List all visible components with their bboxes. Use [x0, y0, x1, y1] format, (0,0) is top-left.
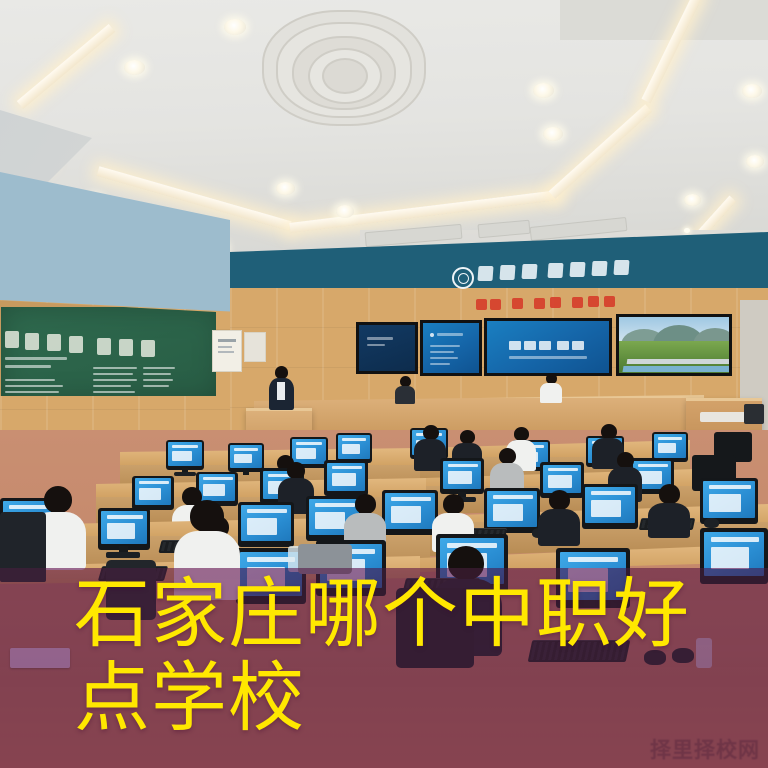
sign-red-glyph: [490, 299, 501, 310]
sign-glyph: [521, 264, 537, 279]
downlight: [746, 155, 764, 168]
monitor: [440, 458, 484, 494]
bench-monitor: [648, 383, 674, 399]
monitor: [228, 443, 264, 472]
wall-poster-small: [244, 332, 266, 362]
sign-red-glyph: [476, 299, 487, 310]
teacher: [268, 366, 294, 410]
watermark: 择里择校网: [650, 734, 760, 764]
green-chalkboard: [0, 300, 230, 410]
downlight: [124, 60, 145, 75]
monitor: [324, 460, 368, 496]
bench-monitor: [462, 385, 488, 401]
downlight: [224, 19, 246, 35]
sign-red-glyph: [588, 296, 599, 307]
scenery-highway: [627, 359, 732, 364]
downlight: [336, 205, 354, 218]
downlight: [742, 84, 762, 98]
overlay-headline: 石家庄哪个中职好 点学校: [74, 572, 764, 740]
display-blue-left: [420, 320, 482, 376]
display-dark-left: [356, 322, 418, 374]
monitor: [166, 440, 204, 470]
sign-glyph: [547, 263, 563, 278]
pin-light: [684, 228, 690, 233]
monitor: [336, 433, 372, 463]
bench-monitor: [424, 385, 450, 401]
downlight: [684, 194, 701, 206]
desk-equipment: [700, 412, 748, 422]
sign-red-glyph: [550, 297, 561, 308]
ceiling-slab-right: [560, 0, 768, 40]
sign-red-glyph: [512, 298, 523, 309]
mouse: [704, 518, 719, 528]
screenshot-root: 石家庄哪个中职好 点学校 择里择校网: [0, 0, 768, 768]
sign-glyph: [613, 260, 629, 275]
ceiling-air-diffuser-core: [322, 58, 368, 94]
bench-monitor: [340, 386, 366, 402]
display-scenery-right: [616, 314, 732, 376]
monitor: [582, 484, 638, 529]
downlight: [543, 127, 563, 141]
bench-monitor: [572, 384, 598, 400]
downlight: [533, 83, 554, 98]
monitor: [98, 508, 150, 550]
monitor: [484, 488, 540, 533]
monitor: [132, 476, 174, 510]
sign-glyph: [477, 266, 493, 281]
seated-person-front-2: [540, 373, 562, 403]
sign-glyph: [591, 261, 607, 276]
sign-red-glyph: [572, 297, 583, 308]
monitor: [382, 490, 438, 535]
sign-glyph: [499, 265, 515, 280]
student: [538, 490, 580, 546]
wall-poster: [212, 330, 242, 372]
school-emblem-icon: [452, 267, 474, 289]
monitor: [238, 502, 294, 547]
sign-red-glyph: [604, 296, 615, 307]
desk-device: [744, 404, 764, 424]
student: [648, 484, 690, 538]
bench-monitor: [376, 386, 402, 402]
display-blue-center: [484, 318, 612, 376]
sign-red-glyph: [534, 298, 545, 309]
scenery-river: [622, 366, 731, 372]
bench-monitor: [610, 384, 636, 400]
sign-glyph: [569, 262, 585, 277]
downlight: [276, 182, 295, 195]
